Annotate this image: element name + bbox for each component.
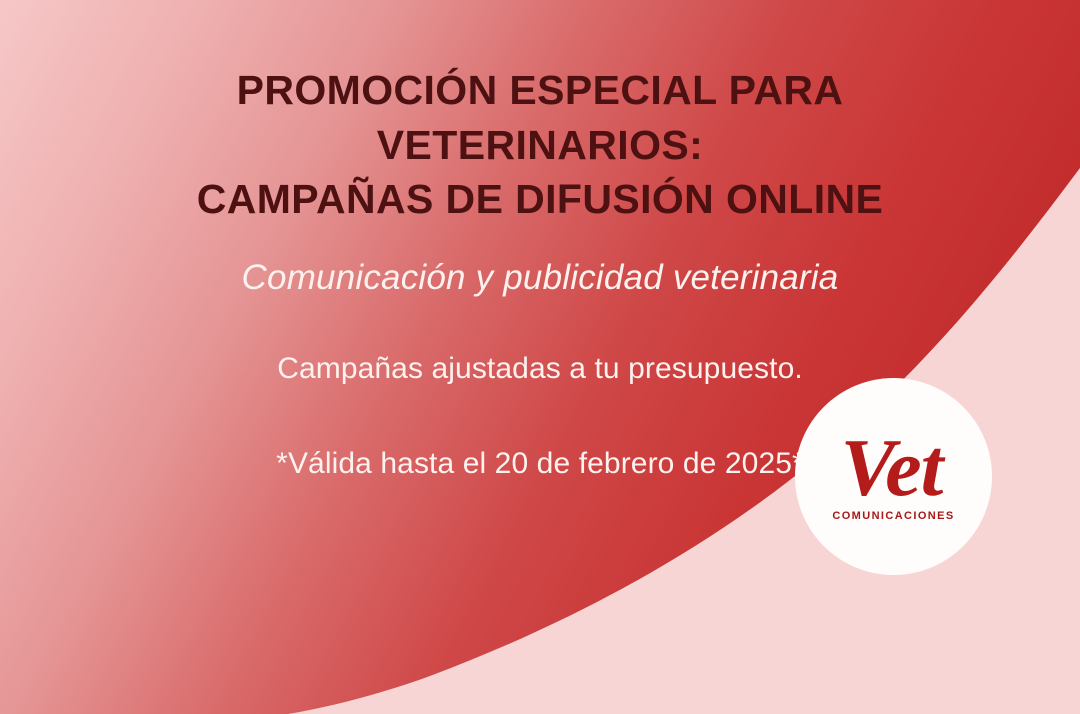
logo-wordmark: Vet (841, 429, 947, 507)
headline-line-2: VETERINARIOS: (0, 118, 1080, 173)
headline-line-1: PROMOCIÓN ESPECIAL PARA (0, 63, 1080, 118)
promo-banner: PROMOCIÓN ESPECIAL PARA VETERINARIOS: CA… (0, 0, 1080, 714)
banner-content: PROMOCIÓN ESPECIAL PARA VETERINARIOS: CA… (0, 0, 1080, 714)
vet-comunicaciones-logo: Vet COMUNICACIONES (795, 378, 992, 575)
subtitle: Comunicación y publicidad veterinaria (0, 257, 1080, 299)
headline-line-3: CAMPAÑAS DE DIFUSIÓN ONLINE (0, 172, 1080, 227)
page-title: PROMOCIÓN ESPECIAL PARA VETERINARIOS: CA… (0, 63, 1080, 227)
